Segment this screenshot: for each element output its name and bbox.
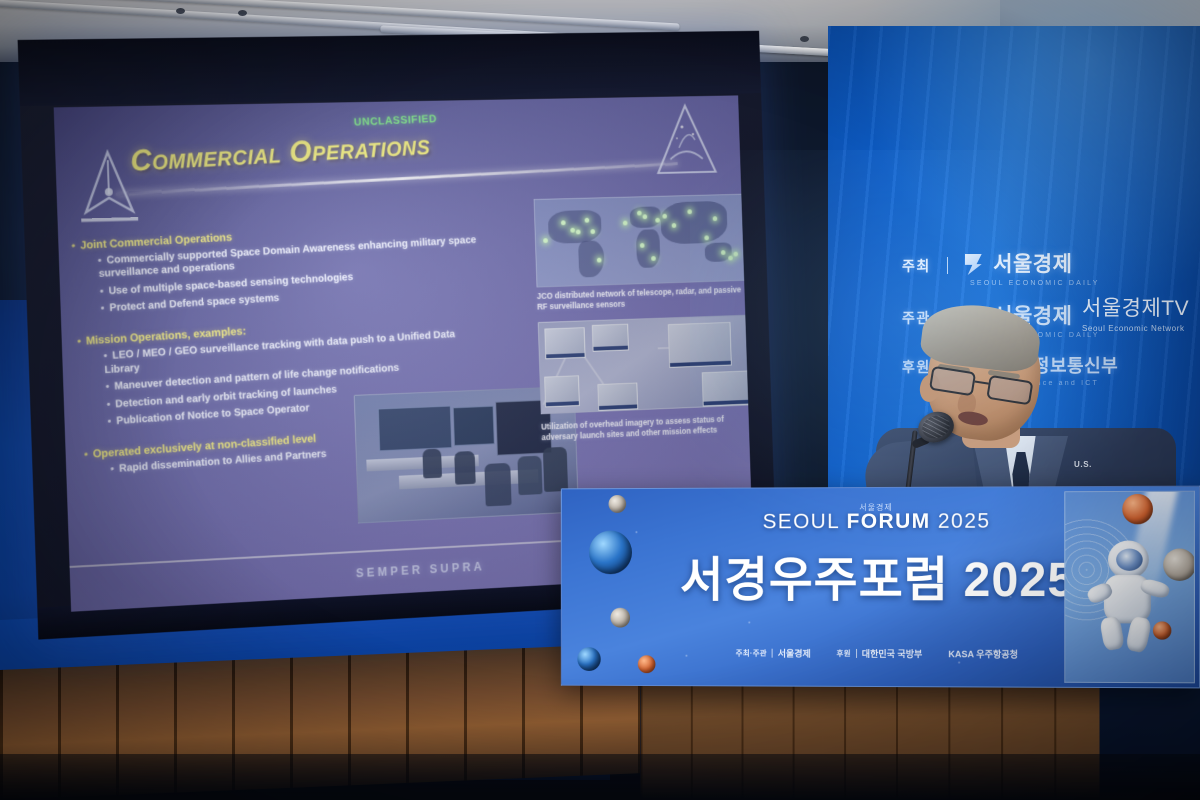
bullet-marker: • bbox=[77, 336, 87, 348]
sponsor-name: 서울경제 bbox=[778, 647, 811, 660]
mars-badge bbox=[1122, 494, 1153, 524]
floor-shadow bbox=[0, 754, 1200, 800]
classification-banner: UNCLASSIFIED bbox=[354, 113, 438, 128]
podium-sponsor-kasa: KASA 우주항공청 bbox=[948, 647, 1018, 660]
sponsor-name: 서울경제 bbox=[993, 253, 1072, 276]
world-sensor-map bbox=[534, 194, 750, 288]
podium-banner: 서울경제 SEOUL FORUM 2025 서경우주포럼 2025 주최·주관 … bbox=[561, 486, 1200, 689]
slide-title: Commercial Operations bbox=[129, 129, 431, 179]
bullet-marker: • bbox=[103, 350, 113, 364]
podium-sponsor-support: 후원 대한민국 국방부 bbox=[837, 647, 923, 660]
space-unit-emblem-icon bbox=[651, 101, 722, 184]
divider bbox=[947, 257, 948, 274]
astronaut-illustration bbox=[1064, 491, 1195, 684]
sponsor-role: 주최·주관 bbox=[736, 648, 767, 659]
podium-panel: 서울경제 SEOUL FORUM 2025 서경우주포럼 2025 주최·주관 … bbox=[561, 486, 1200, 689]
sponsor-name: 대한민국 국방부 bbox=[862, 647, 922, 660]
world-map-caption: JCO distributed network of telescope, ra… bbox=[537, 285, 745, 314]
bullet-marker: • bbox=[106, 398, 116, 412]
us-insignia: U.S. bbox=[1074, 460, 1092, 469]
screen-top-margin bbox=[18, 31, 762, 106]
bullet-marker: • bbox=[84, 449, 94, 462]
podium-sponsor-host: 주최·주관 서울경제 bbox=[736, 647, 811, 660]
bullet-marker: • bbox=[107, 415, 117, 429]
sponsor-name: KASA 우주항공청 bbox=[948, 647, 1018, 660]
forum-title-seoul: SEOUL bbox=[763, 510, 840, 533]
moon-badge bbox=[610, 608, 630, 628]
sponsor-role: 후원 bbox=[837, 648, 851, 659]
backdrop-light-glow bbox=[828, 0, 1200, 340]
astronaut-figure bbox=[1094, 540, 1174, 651]
divider bbox=[856, 649, 857, 658]
sponsor-subtitle: SEOUL ECONOMIC DAILY bbox=[970, 280, 1100, 287]
backdrop-sponsor-row-1: 주최 서울경제 SEOUL ECONOMIC DAILY bbox=[902, 248, 1100, 287]
bullet-marker: • bbox=[110, 462, 120, 476]
forum-title-year: 2025 bbox=[938, 510, 991, 533]
us-space-force-delta-icon bbox=[77, 148, 140, 227]
bullet-marker: • bbox=[98, 254, 108, 268]
bullet-marker: • bbox=[100, 302, 110, 316]
bullet-marker: • bbox=[105, 381, 115, 395]
overhead-imagery-strip bbox=[538, 315, 754, 415]
forum-title-forum: FORUM bbox=[847, 510, 931, 533]
bullet-marker: • bbox=[99, 285, 109, 299]
divider bbox=[772, 649, 773, 658]
sponsor-role-label: 주최 bbox=[902, 258, 931, 274]
conference-hall-scene: 주최 서울경제 SEOUL ECONOMIC DAILY 주관 서울경제 SEO… bbox=[0, 0, 1200, 800]
seoul-economic-logo-icon bbox=[965, 254, 982, 275]
bullet-marker: • bbox=[71, 240, 81, 252]
